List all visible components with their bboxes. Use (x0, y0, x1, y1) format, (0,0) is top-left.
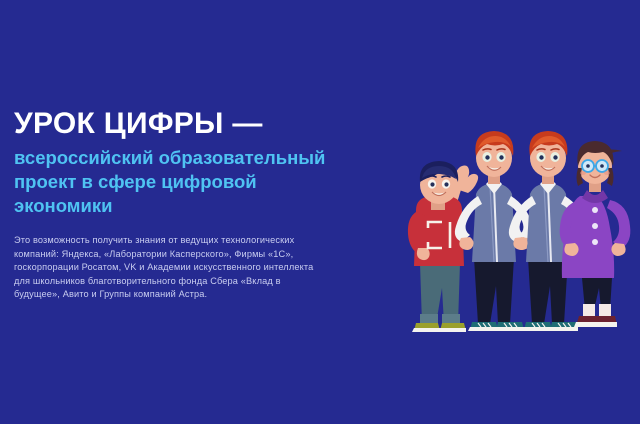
page-title: УРОК ЦИФРЫ — (14, 108, 344, 140)
character-girl-purple-coat (560, 141, 631, 327)
body-copy: Это возможность получить знания от ведущ… (14, 234, 324, 302)
text-block: УРОК ЦИФРЫ — всероссийский образовательн… (14, 108, 344, 217)
page-subtitle: всероссийский образовательный проект в с… (14, 146, 354, 217)
body-paragraph: Это возможность получить знания от ведущ… (14, 234, 324, 302)
character-boy-redhead-left (455, 131, 534, 331)
promo-banner: УРОК ЦИФРЫ — всероссийский образовательн… (0, 0, 640, 424)
four-students-illustration (398, 128, 640, 348)
